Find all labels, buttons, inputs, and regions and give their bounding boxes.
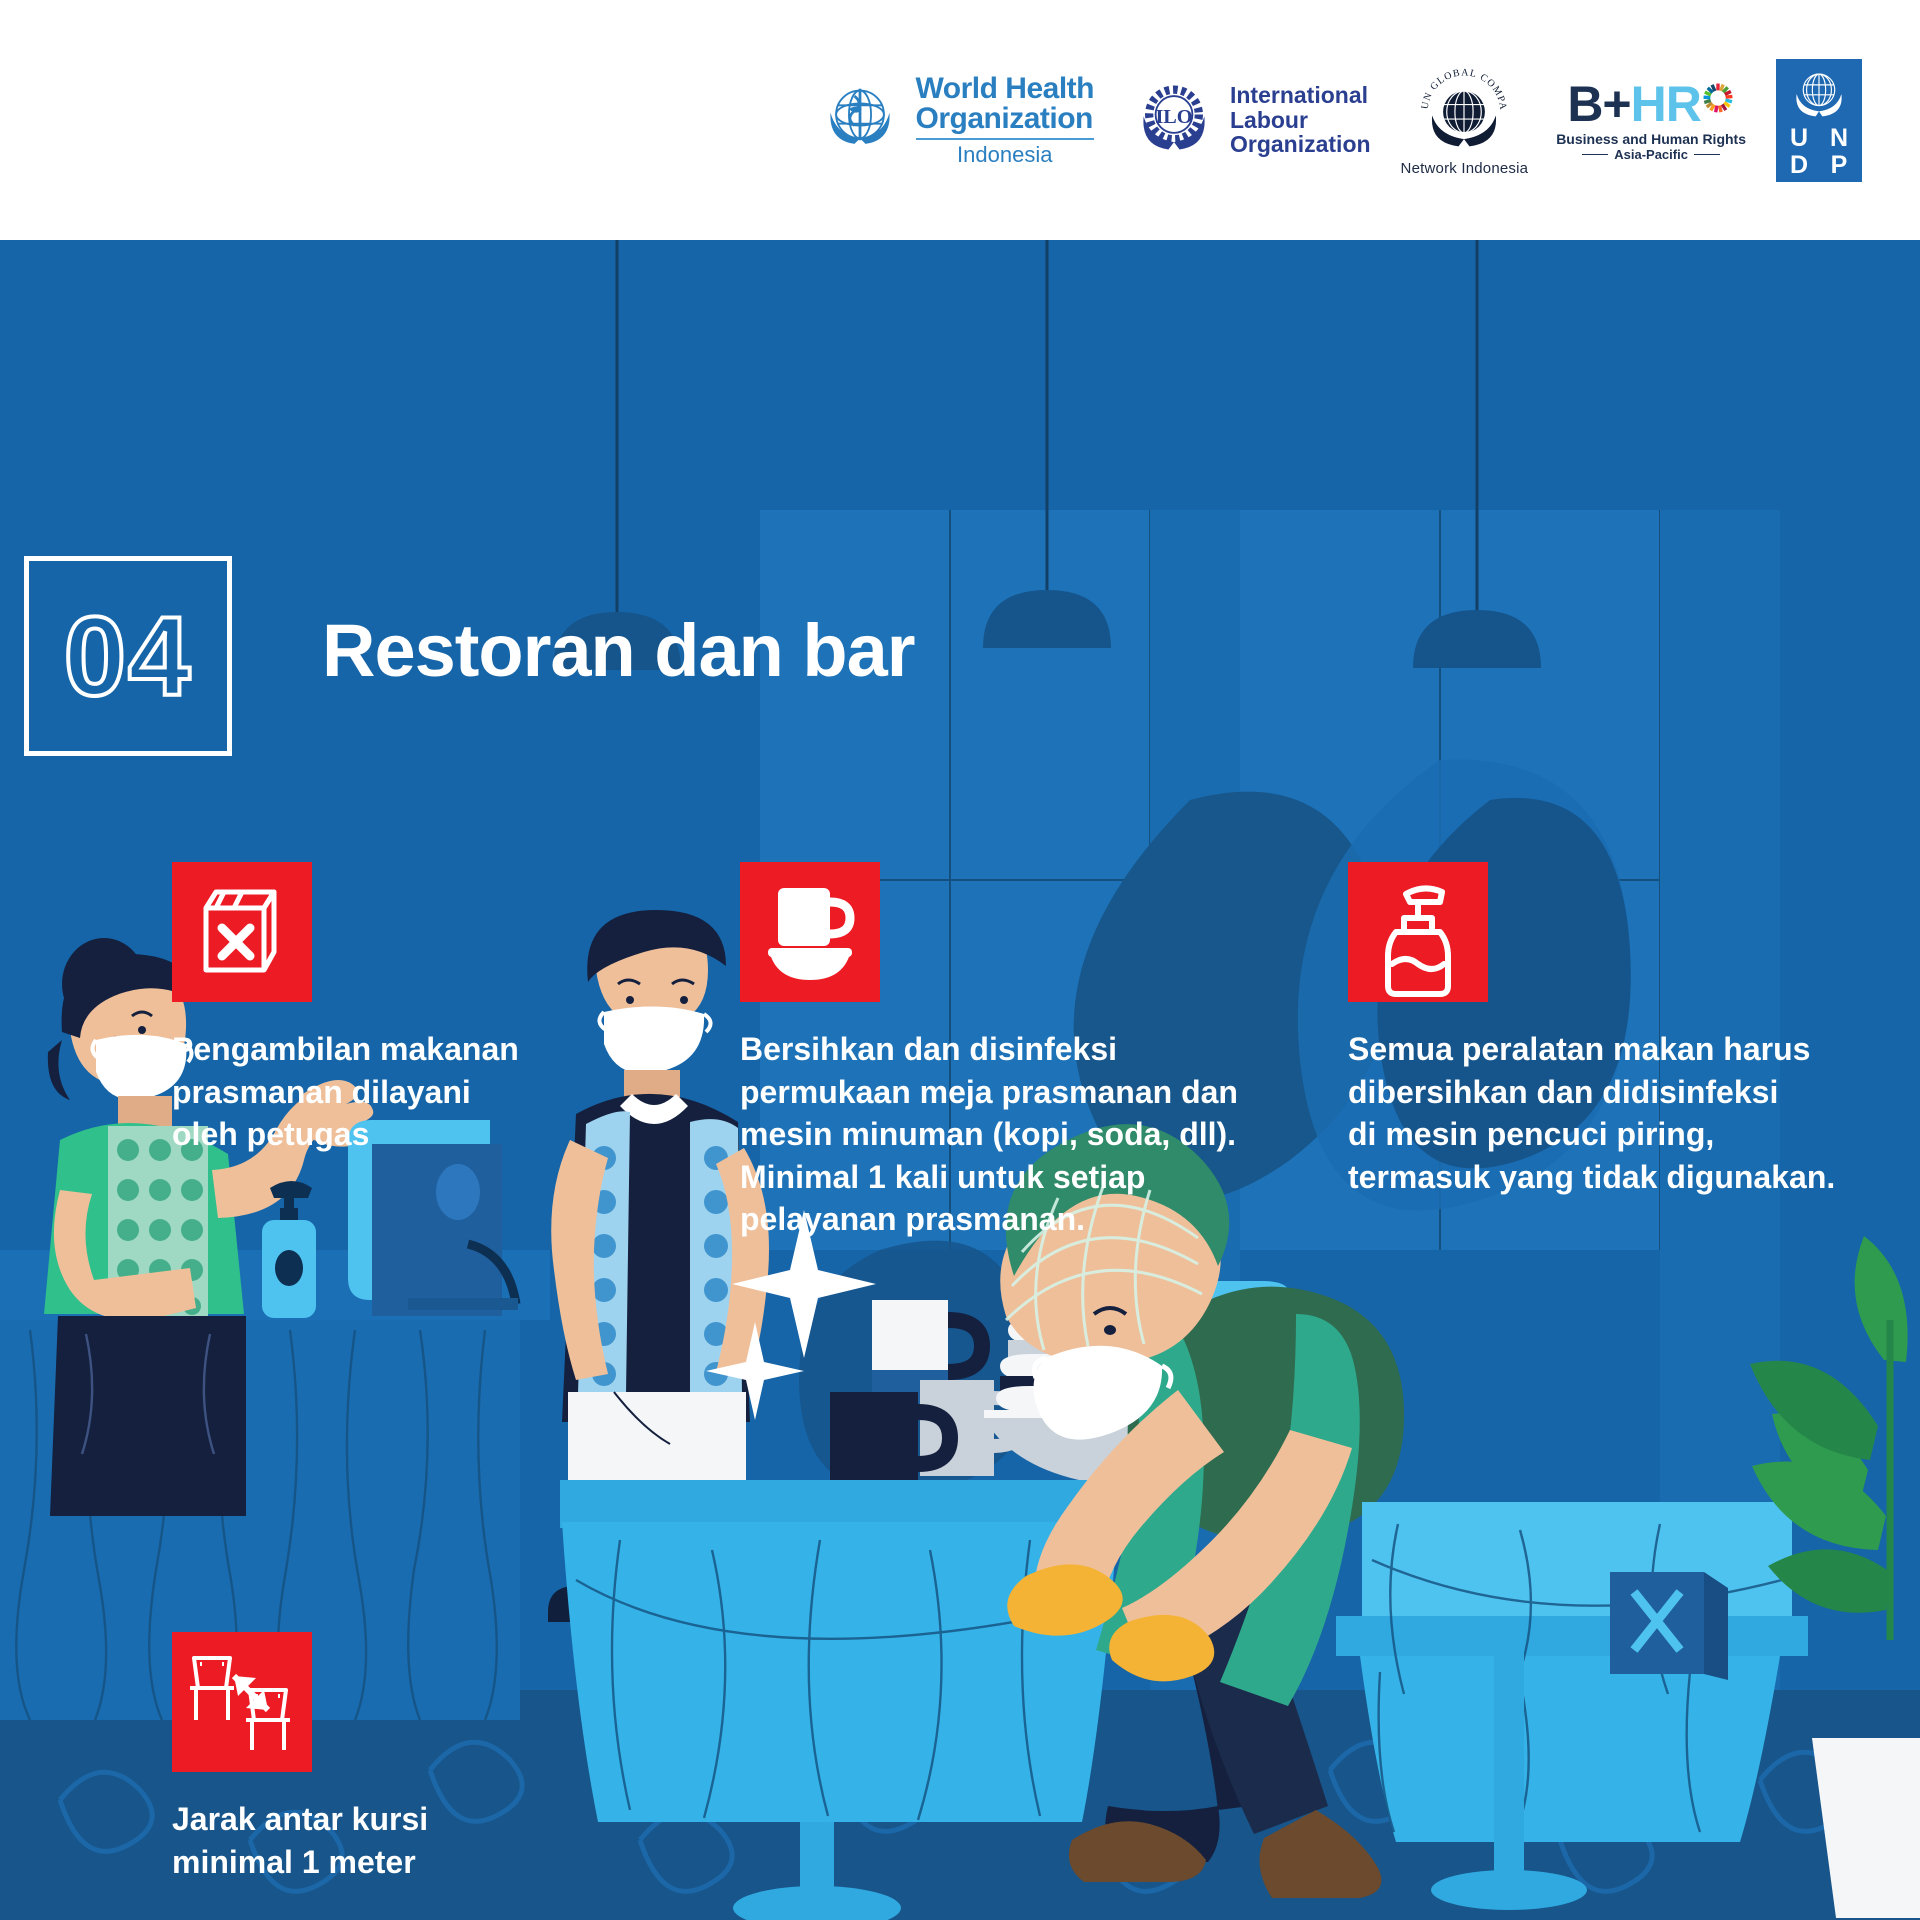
cup-and-saucer-icon bbox=[740, 862, 880, 1002]
ilo-emblem-icon: ILO bbox=[1128, 74, 1220, 166]
tip-takeaway-bag: Pengambilan makanan prasmanan dilayani o… bbox=[172, 862, 602, 1156]
soap-dispenser-icon bbox=[1348, 862, 1488, 1002]
tip-text: Bersihkan dan disinfeksi permukaan meja … bbox=[740, 1028, 1320, 1241]
svg-text:ILO: ILO bbox=[1155, 106, 1192, 128]
ilo-name-line3: Organization bbox=[1230, 132, 1371, 157]
takeaway-bag-forbidden-icon bbox=[172, 862, 312, 1002]
logo-business-and-human-rights: B+ HR bbox=[1556, 79, 1746, 162]
undp-letter-d: D bbox=[1780, 153, 1818, 178]
ungc-globe-icon: UN GLOBAL COMPACT bbox=[1414, 64, 1514, 156]
who-divider bbox=[916, 138, 1094, 140]
section-number: 04 bbox=[29, 561, 227, 751]
chair-distance-icon bbox=[172, 1632, 312, 1772]
tip-cup-saucer: Bersihkan dan disinfeksi permukaan meja … bbox=[740, 862, 1320, 1241]
tip-text: Jarak antar kursi minimal 1 meter bbox=[172, 1798, 592, 1883]
who-emblem-icon bbox=[814, 74, 906, 166]
logo-international-labour-organization: ILO International Labour Organization bbox=[1128, 74, 1371, 166]
section-number-badge: 04 bbox=[24, 556, 232, 756]
ilo-name-line1: International bbox=[1230, 83, 1371, 108]
undp-letter-u: U bbox=[1780, 126, 1818, 151]
un-emblem-icon bbox=[1789, 65, 1849, 123]
tip-text: Semua peralatan makan harus dibersihkan … bbox=[1348, 1028, 1888, 1198]
bhr-region: Asia-Pacific bbox=[1582, 147, 1720, 162]
logo-bar: World Health Organization Indonesia ILO … bbox=[0, 0, 1920, 240]
undp-letter-n: N bbox=[1820, 126, 1858, 151]
logo-world-health-organization: World Health Organization Indonesia bbox=[814, 74, 1094, 166]
poster-body: 04 Restoran dan bar Pengambilan makanan … bbox=[0, 240, 1920, 1920]
tip-text: Pengambilan makanan prasmanan dilayani o… bbox=[172, 1028, 602, 1156]
logo-undp: U N D P bbox=[1776, 59, 1862, 182]
ilo-name-line2: Labour bbox=[1230, 108, 1371, 133]
undp-letter-p: P bbox=[1820, 153, 1858, 178]
infographic-poster: World Health Organization Indonesia ILO … bbox=[0, 0, 1920, 1920]
who-country-label: Indonesia bbox=[916, 144, 1094, 166]
bhr-mark-b: B+ bbox=[1567, 79, 1630, 129]
bhr-mark-hr: HR bbox=[1631, 79, 1701, 129]
who-name-line1: World Health bbox=[916, 74, 1094, 104]
who-name-line2: Organization bbox=[916, 104, 1094, 134]
sdg-wheel-icon bbox=[1701, 81, 1735, 115]
ungc-caption: Network Indonesia bbox=[1401, 160, 1529, 177]
tip-soap-dispenser: Semua peralatan makan harus dibersihkan … bbox=[1348, 862, 1888, 1198]
page-title: Restoran dan bar bbox=[322, 608, 915, 693]
bhr-subtitle: Business and Human Rights bbox=[1556, 131, 1746, 147]
logo-un-global-compact: UN GLOBAL COMPACT Network Indonesia bbox=[1401, 64, 1529, 177]
tip-chair-distance: Jarak antar kursi minimal 1 meter bbox=[172, 1632, 592, 1883]
